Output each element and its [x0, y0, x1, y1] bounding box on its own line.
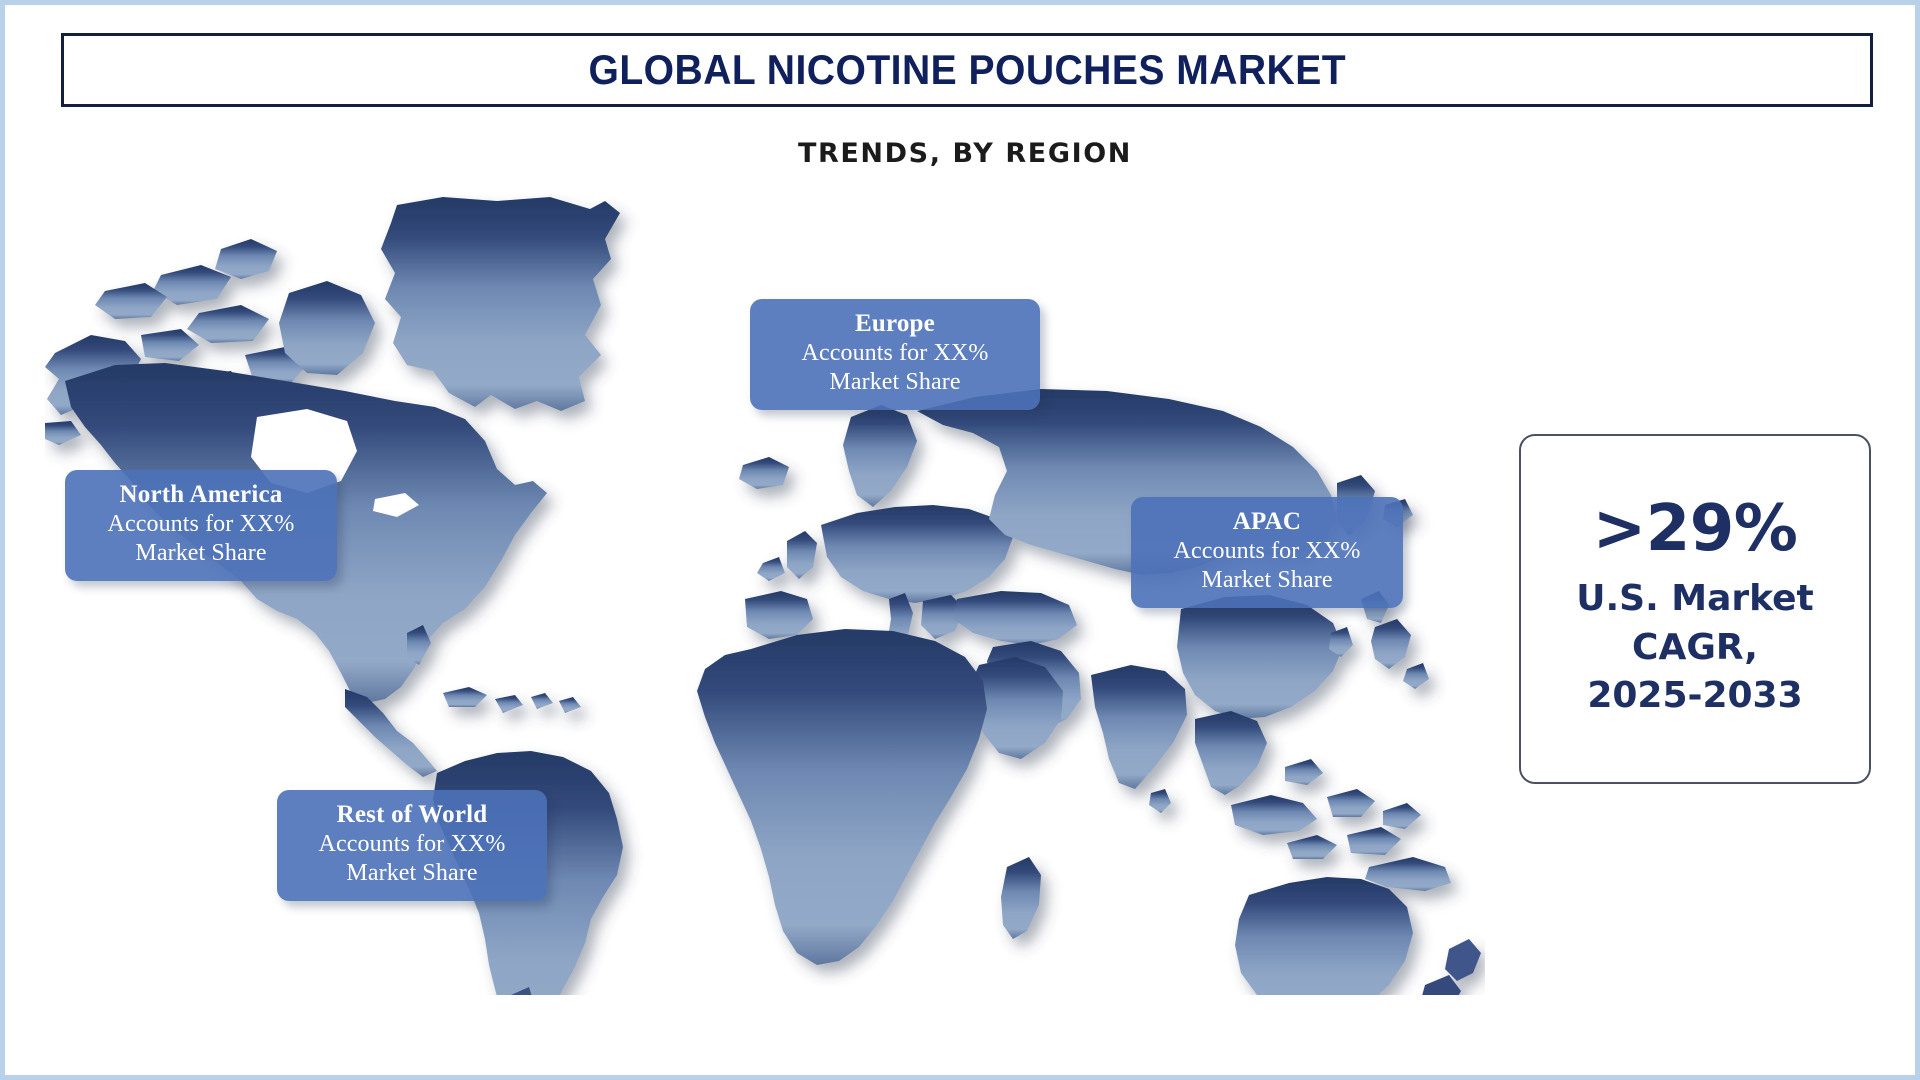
stat-value: >29% [1593, 497, 1798, 561]
page-subtitle: TRENDS, BY REGION [5, 138, 1920, 169]
region-title-rest-of-world: Rest of World [291, 800, 533, 830]
region-line1-rest-of-world: Accounts for XX% [291, 830, 533, 860]
stat-label-line1: U.S. Market [1576, 575, 1814, 624]
region-box-rest-of-world[interactable]: Rest of World Accounts for XX% Market Sh… [277, 790, 547, 901]
region-title-apac: APAC [1145, 507, 1389, 537]
page-title: GLOBAL NICOTINE POUCHES MARKET [588, 46, 1346, 94]
region-line1-europe: Accounts for XX% [764, 339, 1026, 369]
region-line2-rest-of-world: Market Share [291, 859, 533, 889]
region-box-apac[interactable]: APAC Accounts for XX% Market Share [1131, 497, 1403, 608]
stat-label-line3: 2025-2033 [1576, 672, 1814, 721]
region-box-europe[interactable]: Europe Accounts for XX% Market Share [750, 299, 1040, 410]
region-line1-apac: Accounts for XX% [1145, 537, 1389, 567]
stat-label-line2: CAGR, [1576, 624, 1814, 673]
region-line1-north-america: Accounts for XX% [79, 510, 323, 540]
title-box: GLOBAL NICOTINE POUCHES MARKET [61, 33, 1873, 107]
stat-card-us-cagr: >29% U.S. Market CAGR, 2025-2033 [1519, 434, 1871, 784]
infographic-root: GLOBAL NICOTINE POUCHES MARKET TRENDS, B… [0, 0, 1920, 1080]
region-title-europe: Europe [764, 309, 1026, 339]
region-box-north-america[interactable]: North America Accounts for XX% Market Sh… [65, 470, 337, 581]
region-title-north-america: North America [79, 480, 323, 510]
region-line2-apac: Market Share [1145, 566, 1389, 596]
stat-label: U.S. Market CAGR, 2025-2033 [1576, 575, 1814, 722]
region-line2-north-america: Market Share [79, 539, 323, 569]
region-line2-europe: Market Share [764, 368, 1026, 398]
